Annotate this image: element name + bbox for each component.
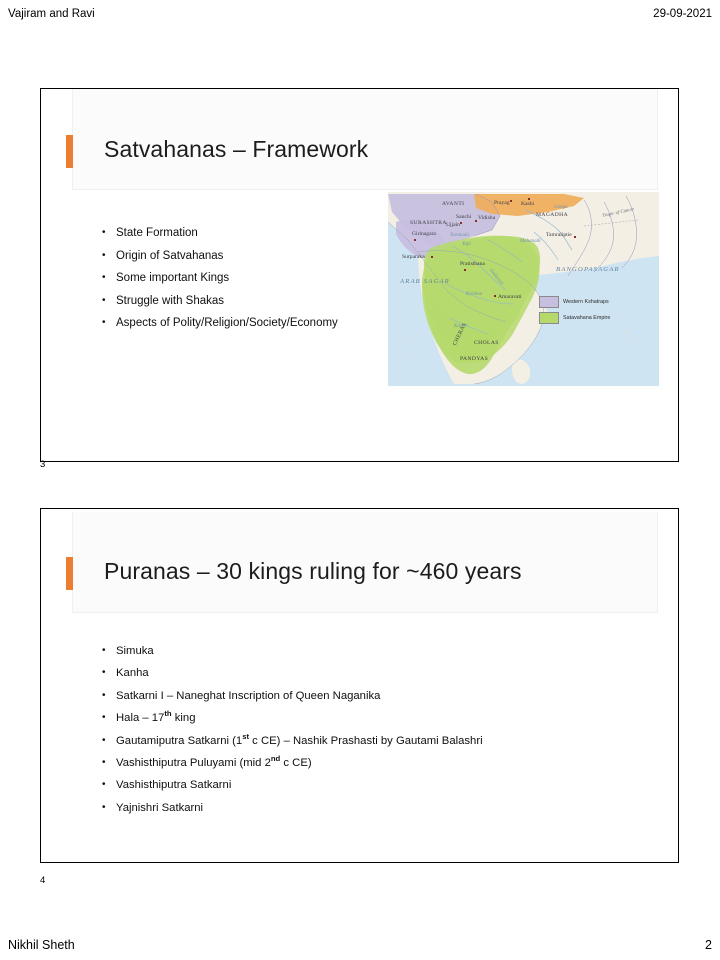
page-footer: Nikhil Sheth 2 [0,934,720,952]
list-item: Satkarni I – Naneghat Inscription of Que… [100,685,483,707]
city-dot-surparaka [431,256,433,258]
ordinal-suffix: nd [271,754,280,763]
page-header: Vajiram and Ravi 29-09-2021 [0,8,720,26]
legend-row-satavahana: Satavahana Empire [539,312,653,324]
city-dot-ujjain [460,222,462,224]
legend-label: Satavahana Empire [563,315,610,321]
list-item-text: Gautamiputra Satkarni (1 [116,735,242,747]
list-item-text-cont: king [172,712,196,724]
legend-swatch-icon [539,296,559,308]
slide-number-label: 4 [40,875,45,886]
list-item: Simuka [100,640,483,662]
map-image: AVANTI SURASHTRA MAGADHA CHOLAS CHERAS P… [388,192,659,386]
city-dot-girinagara [414,239,416,241]
title-accent-bar [66,135,73,168]
city-dot-prayag [510,200,512,202]
legend-label: Western Kshatraps [563,299,609,305]
legend-swatch-icon [539,312,559,324]
slide-bullet-list: State Formation Origin of Satvahanas Som… [100,222,338,335]
list-item: Aspects of Polity/Religion/Society/Econo… [100,312,338,335]
list-item: Origin of Satvahanas [100,245,338,268]
city-dot-kashi [528,198,530,200]
city-dot-amaravati [494,295,496,297]
list-item: Kanha [100,662,483,684]
ordinal-suffix: th [164,709,171,718]
title-accent-bar [66,557,73,590]
city-dot-pratisthana [464,269,466,271]
list-item: Some important Kings [100,267,338,290]
legend-row-kshatraps: Western Kshatraps [539,296,653,308]
list-item: Yajnishri Satkarni [100,797,483,819]
footer-author: Nikhil Sheth [8,938,75,952]
header-date-right: 29-09-2021 [653,8,712,20]
list-item-gautamiputra: Gautamiputra Satkarni (1st c CE) – Nashi… [100,730,483,752]
list-item-puluyami: Vashisthiputra Puluyami (mid 2nd c CE) [100,752,483,774]
header-title-left: Vajiram and Ravi [8,8,95,20]
list-item-text: Vashisthiputra Puluyami (mid 2 [116,757,271,769]
slide-number-label: 3 [40,459,45,470]
slide-bullet-list: Simuka Kanha Satkarni I – Naneghat Inscr… [100,640,483,819]
city-dot-tamraliptie [574,236,576,238]
map-illustration [388,192,659,386]
slide-title: Satvahanas – Framework [104,136,368,163]
list-item: Struggle with Shakas [100,290,338,313]
slide-title: Puranas – 30 kings ruling for ~460 years [104,558,522,585]
list-item-text: Hala – 17 [116,712,164,724]
list-item: State Formation [100,222,338,245]
list-item-text-cont: c CE) – Nashik Prashasti by Gautami Bala… [249,735,483,747]
slide-thumbnail-4[interactable]: Puranas – 30 kings ruling for ~460 years… [40,508,679,863]
list-item: Vashisthiputra Satkarni [100,774,483,796]
list-item-text-cont: c CE) [280,757,311,769]
slide-thumbnail-3[interactable]: Satvahanas – Framework State Formation O… [40,88,679,462]
footer-page-number: 2 [705,938,712,952]
map-legend: Western Kshatraps Satavahana Empire [539,296,653,328]
city-dot-vidisha [475,220,477,222]
list-item-hala: Hala – 17th king [100,707,483,729]
